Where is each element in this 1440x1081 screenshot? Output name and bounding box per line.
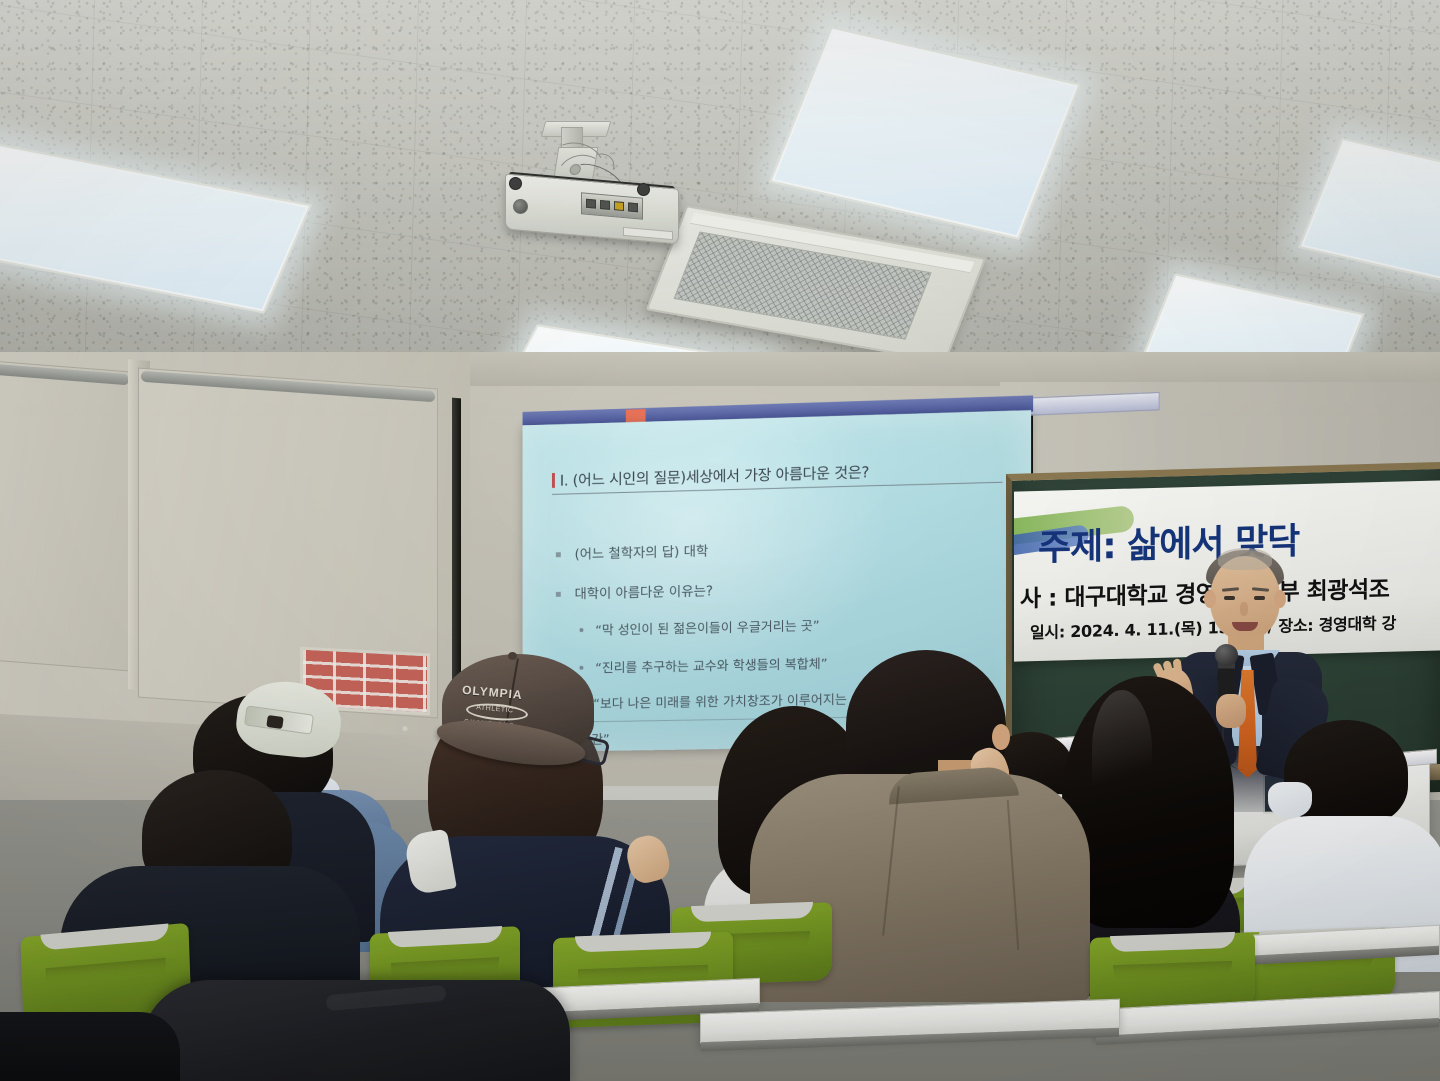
microphone-head-icon (1215, 644, 1238, 666)
backpack (140, 980, 570, 1081)
cap-button (508, 652, 517, 660)
audience-member-foreground: OLYMPIA ATHLETIC CHAMPIONS (400, 640, 660, 970)
slide-bullet: 대학이 아름다운 이유는? (556, 579, 713, 602)
face-mask-icon (1268, 782, 1312, 818)
bullet-square-icon (556, 592, 561, 597)
slide-title-accent-bar (552, 473, 555, 488)
cap-opening (266, 715, 284, 729)
presenter-ear (1204, 590, 1216, 608)
cap-logo-oval-text: ATHLETIC (476, 704, 514, 714)
person-ear (992, 724, 1010, 750)
bullet-square-icon (556, 552, 561, 557)
projector-lens-icon (513, 199, 528, 214)
slide-bullet: (어느 철학자의 답) 대학 (556, 540, 708, 564)
bullet-dot-icon (579, 628, 583, 632)
audience-member (1262, 720, 1432, 960)
projector-icon (505, 133, 685, 245)
presenter-eye (1254, 596, 1265, 600)
lecture-hall-photo: Ⅰ. (어느 시인의 질문)세상에서 가장 아름다운 것은? (어느 철학자의 … (0, 0, 1440, 1081)
backpack-strap (326, 985, 447, 1011)
hair-highlight (1092, 690, 1152, 810)
presenter-eye (1224, 596, 1235, 600)
window-blind[interactable] (0, 360, 132, 671)
presenter-nose (1240, 602, 1248, 616)
slide-bullet-text: (어느 철학자의 답) 대학 (575, 544, 709, 563)
slide-bullet-text: 대학이 아름다운 이유는? (575, 583, 713, 602)
presenter-hair-highlight (1218, 548, 1272, 570)
foreground-shadow (0, 1012, 180, 1081)
presenter-ear (1274, 590, 1286, 608)
